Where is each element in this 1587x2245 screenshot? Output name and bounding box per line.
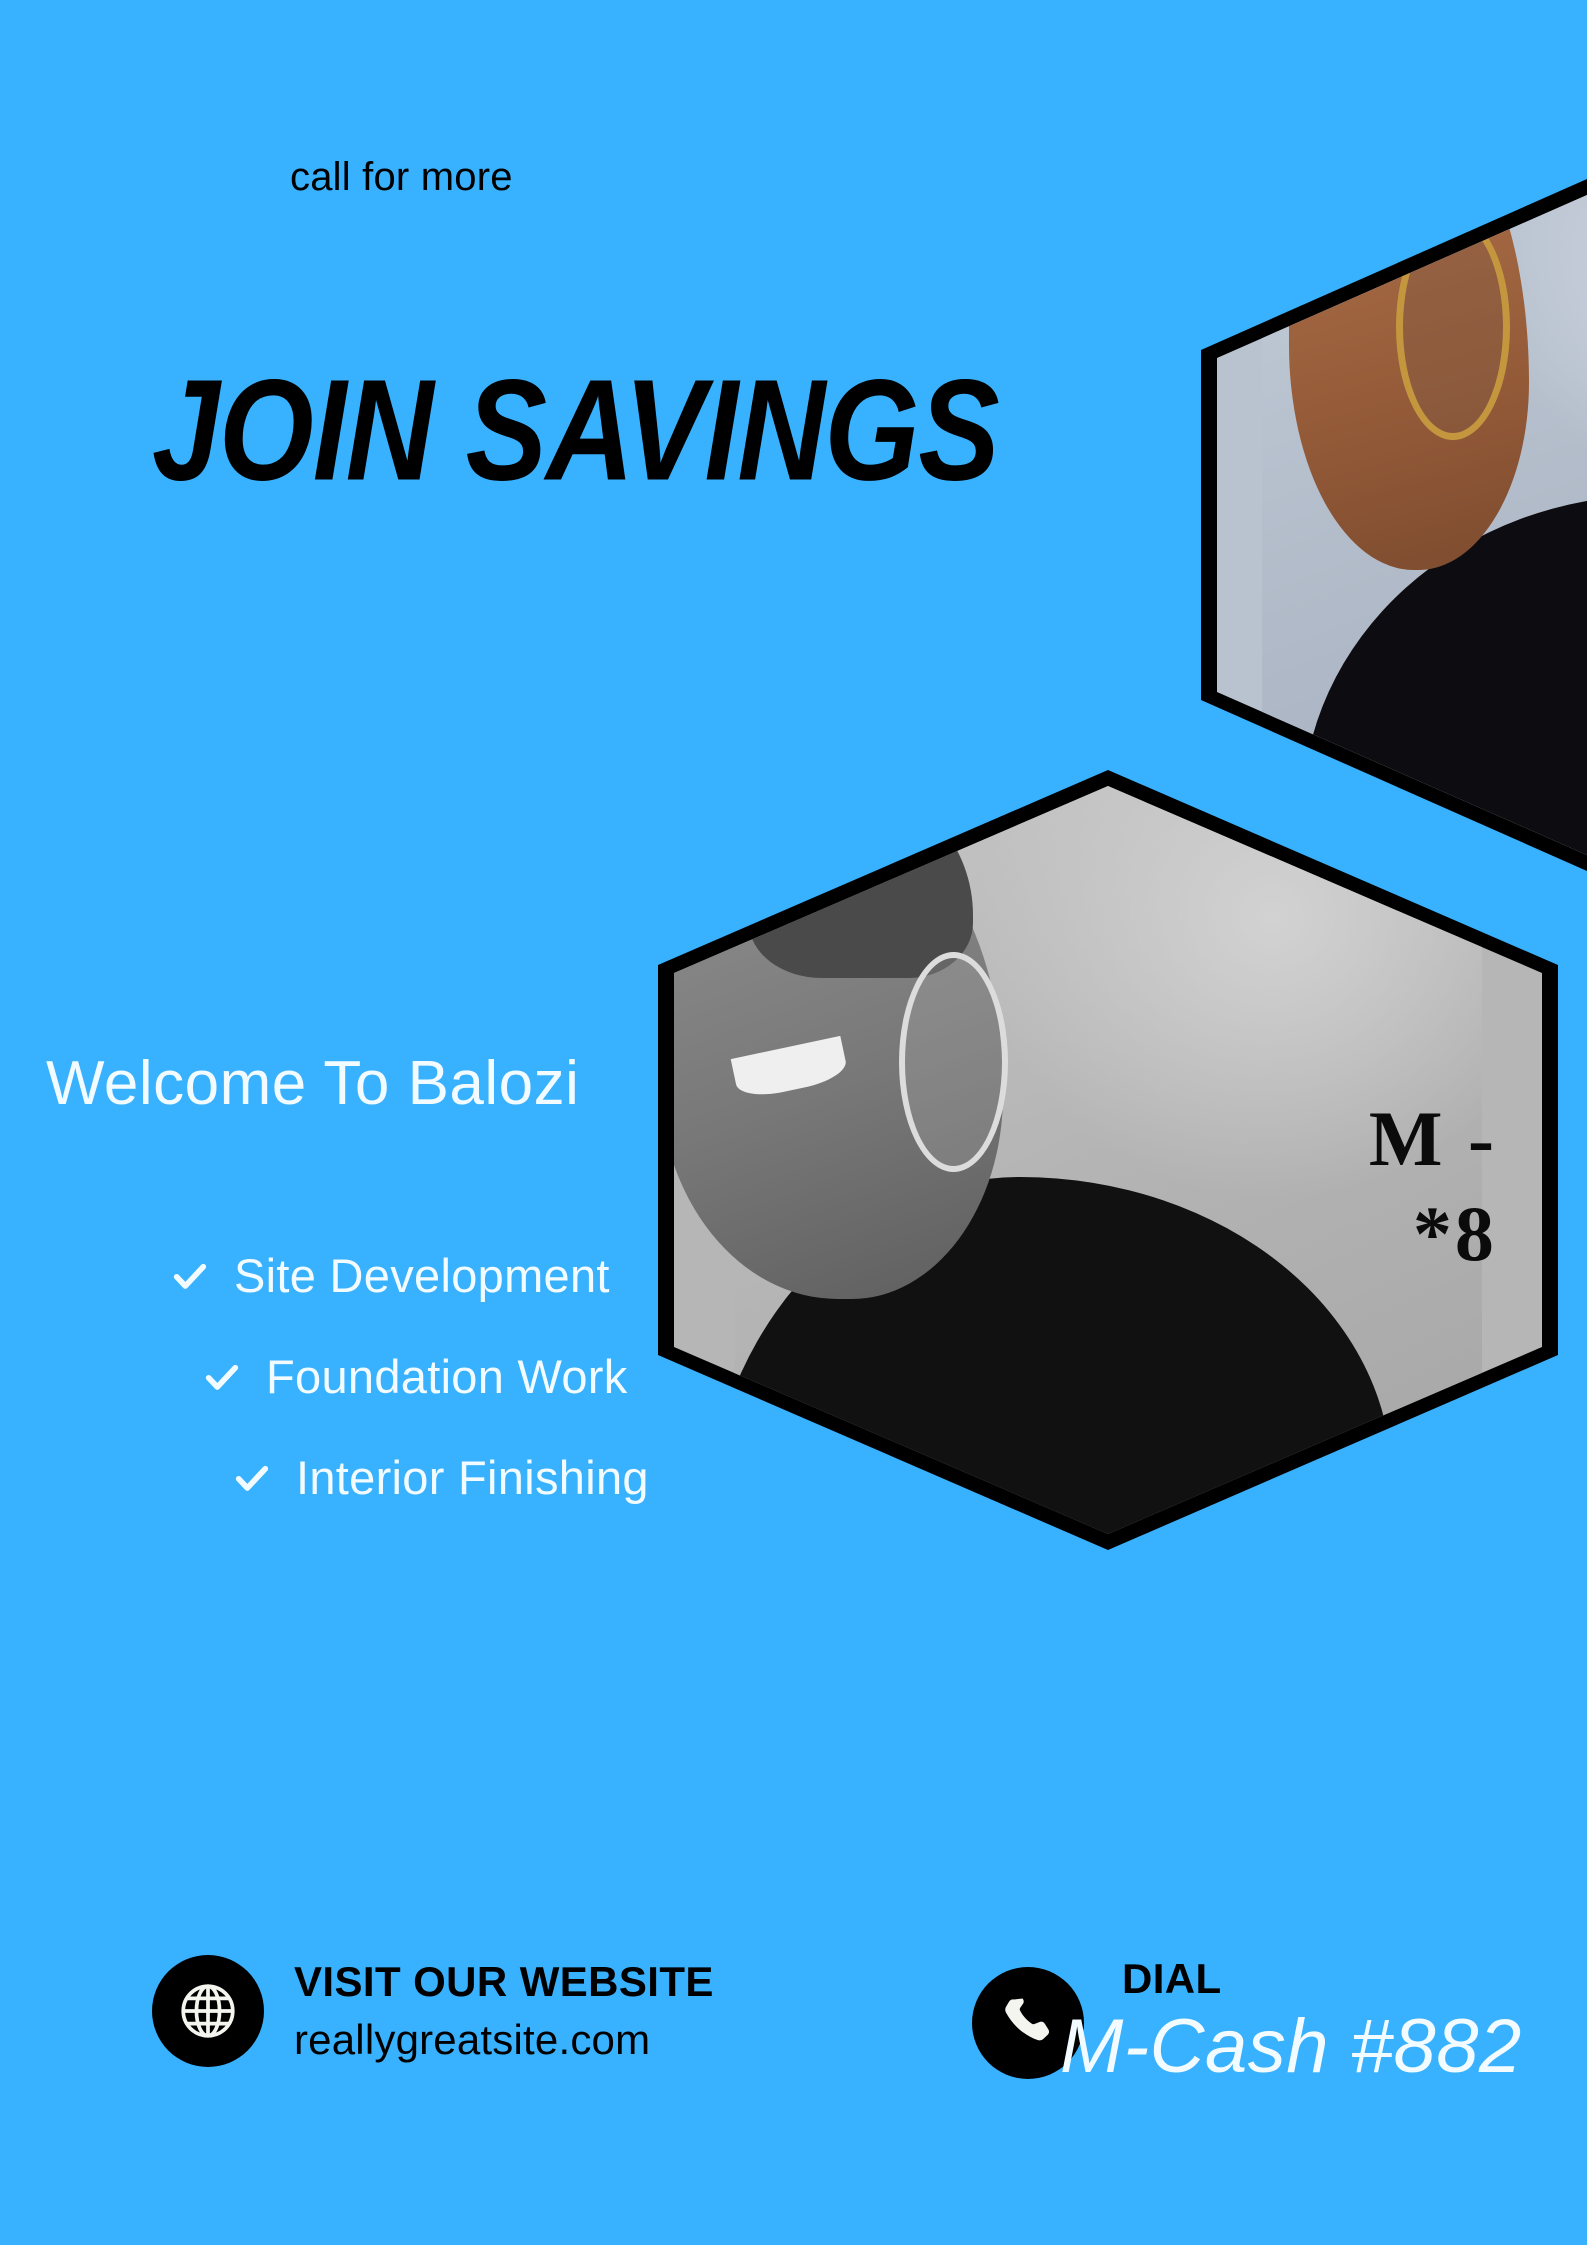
list-item-label: Site Development xyxy=(234,1248,610,1303)
footer-website-block[interactable]: VISIT OUR WEBSITE reallygreatsite.com xyxy=(152,1955,714,2067)
signage-line-2: *8 xyxy=(1369,1186,1497,1281)
photo-signage-text: M - *8 xyxy=(1369,1091,1497,1281)
footer-dial-block[interactable]: DIAL M-Cash #882 xyxy=(972,1955,1522,2090)
phone-icon xyxy=(997,1992,1059,2054)
photo-hoop-earring xyxy=(899,952,1008,1172)
footer-website-title: VISIT OUR WEBSITE xyxy=(294,1958,714,2006)
hexagon-bottom-image: M - *8 xyxy=(674,786,1542,1534)
footer-website-text: VISIT OUR WEBSITE reallygreatsite.com xyxy=(294,1958,714,2064)
check-icon xyxy=(202,1357,242,1397)
service-checklist: Site Development Foundation Work Interio… xyxy=(0,1248,760,1551)
hexagon-top-image xyxy=(1217,191,1587,859)
welcome-heading: Welcome To Balozi xyxy=(46,1048,579,1119)
footer-dial-text: DIAL M-Cash #882 xyxy=(1122,1955,1522,2090)
kicker-text: call for more xyxy=(290,155,513,200)
footer-dial-code: M-Cash #882 xyxy=(1060,2003,1522,2090)
footer-website-url[interactable]: reallygreatsite.com xyxy=(294,2016,714,2064)
list-item: Interior Finishing xyxy=(232,1450,760,1505)
check-icon xyxy=(170,1256,210,1296)
signage-line-1: M - xyxy=(1369,1091,1497,1186)
list-item: Site Development xyxy=(170,1248,760,1303)
page-title: JOIN SAVINGS xyxy=(152,358,999,502)
check-icon xyxy=(232,1458,272,1498)
hexagon-photo-bottom: M - *8 xyxy=(658,770,1558,1550)
photo-woman-color xyxy=(1262,191,1587,859)
list-item-label: Foundation Work xyxy=(266,1349,628,1404)
list-item: Foundation Work xyxy=(202,1349,760,1404)
list-item-label: Interior Finishing xyxy=(296,1450,649,1505)
globe-icon-badge xyxy=(152,1955,264,2067)
footer-dial-title: DIAL xyxy=(1122,1955,1522,2003)
poster-canvas: call for more JOIN SAVINGS M - xyxy=(0,0,1587,2245)
globe-icon xyxy=(175,1978,241,2044)
